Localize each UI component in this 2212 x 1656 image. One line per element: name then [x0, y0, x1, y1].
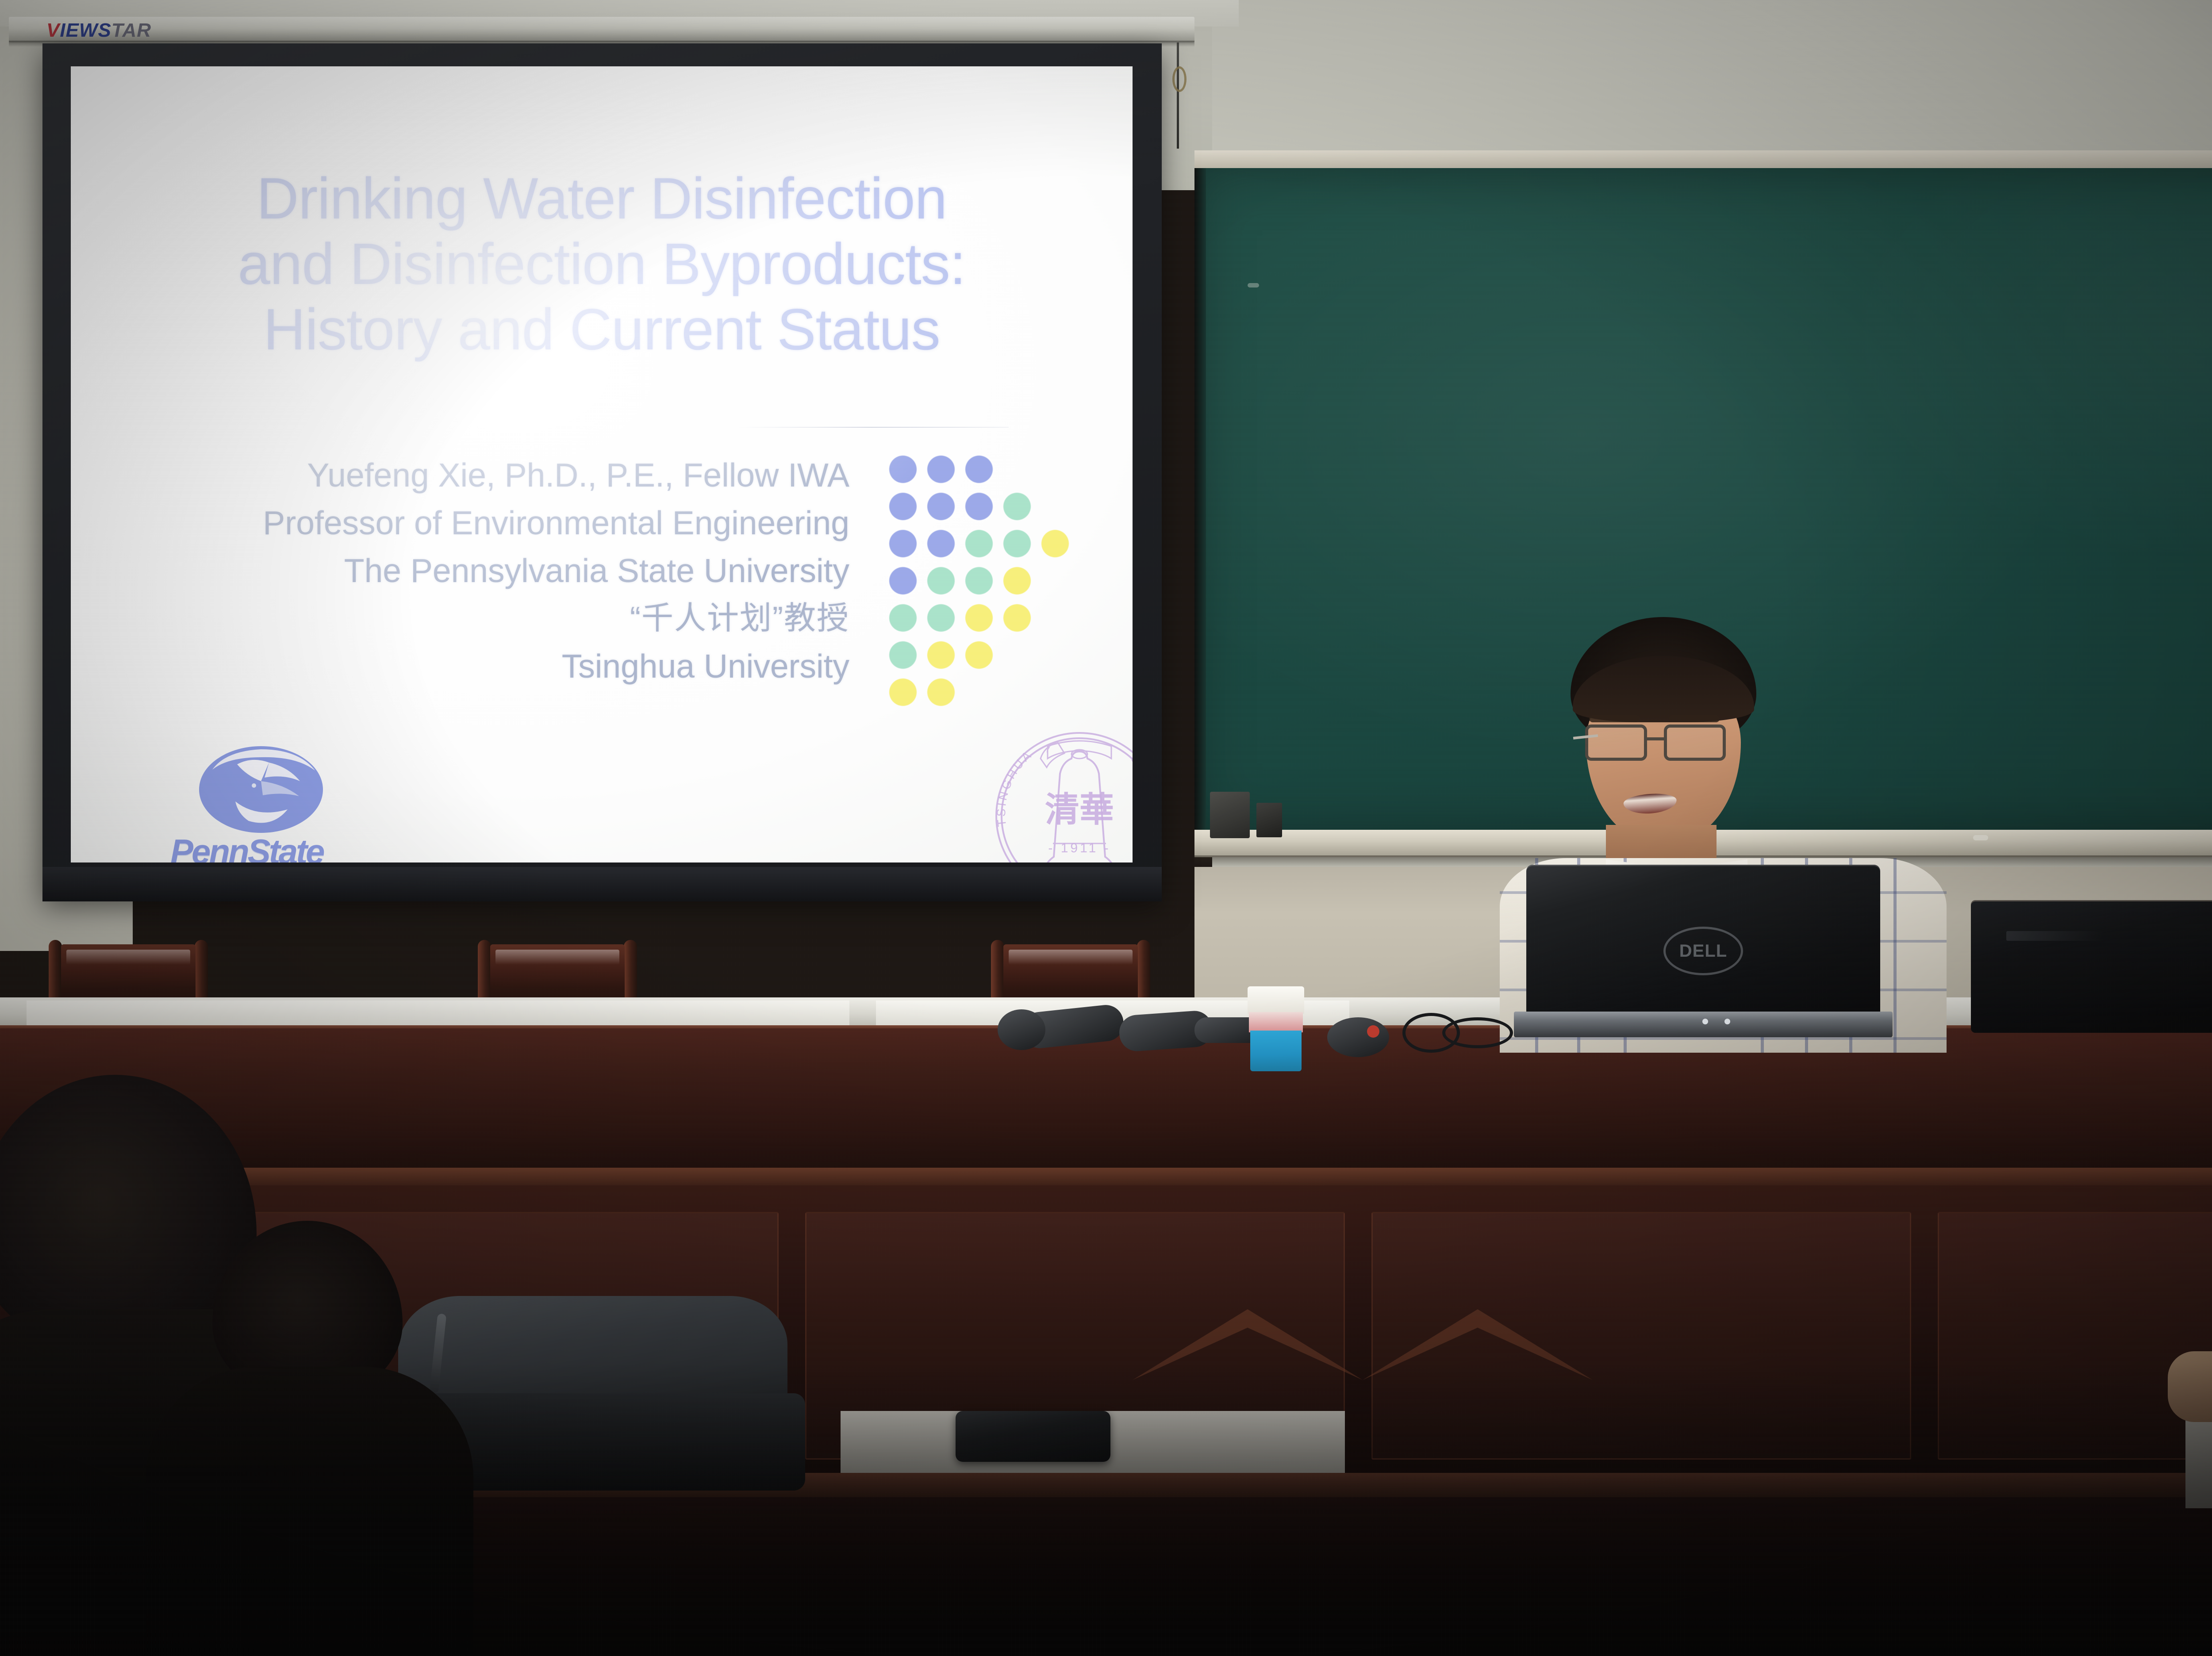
slide-subtitle-line-2: Professor of Environmental Engineering: [261, 499, 849, 547]
slide-subtitle-line-1: Yuefeng Xie, Ph.D., P.E., Fellow IWA: [261, 451, 849, 499]
tsinghua-year: - 1911 -: [1048, 841, 1110, 855]
laptop-led-indicator: [1724, 1019, 1730, 1024]
dot-green: [1003, 493, 1031, 520]
dot-grid-row: [889, 567, 1069, 594]
paper-cup[interactable]: [1248, 986, 1304, 1070]
presentation-slide: Drinking Water Disinfection and Disinfec…: [71, 66, 1133, 862]
laptop-base: [1514, 1012, 1893, 1037]
wall-speaker-box: [1210, 792, 1250, 838]
dot-grid-row: [889, 493, 1069, 520]
dot-yellow: [889, 678, 917, 706]
second-laptop[interactable]: [1971, 900, 2212, 1042]
laptop-lid: [1971, 900, 2212, 1033]
dot-yellow: [965, 641, 993, 669]
laptop-brand-badge: [2006, 931, 2104, 941]
dot-green: [927, 604, 955, 632]
slide-subtitle: Yuefeng Xie, Ph.D., P.E., Fellow IWA Pro…: [261, 451, 849, 690]
dot-green: [1003, 530, 1031, 557]
cable-coil: [1442, 1017, 1513, 1048]
dot-blue: [927, 493, 955, 520]
dot-grid-row: [889, 530, 1069, 557]
projector-screen-housing: [9, 17, 1194, 42]
shirt-plaid-line: [1893, 858, 1897, 1053]
slide-title: Drinking Water Disinfection and Disinfec…: [71, 166, 1133, 362]
chalkboard-top-trim: [1194, 150, 2212, 170]
dot-green: [965, 567, 993, 594]
dot-blue: [889, 456, 917, 483]
slide-title-line-1: Drinking Water Disinfection: [71, 166, 1133, 231]
cup-lid: [1248, 986, 1304, 1014]
screen-pull-cord[interactable]: [1177, 42, 1179, 149]
microphone-indicator-light: [1367, 1025, 1379, 1038]
viewstar-part-3: TAR: [111, 19, 151, 41]
slide-divider-rule: [734, 427, 1009, 428]
dot-yellow: [965, 604, 993, 632]
tsinghua-university-seal-icon: 清華 - 1911 - TSINGHUA UNIVERSITY: [991, 728, 1133, 862]
slide-dot-grid-decoration: [889, 456, 1069, 716]
dot-blue: [927, 530, 955, 557]
desk-panel: [1938, 1212, 2212, 1460]
slide-subtitle-line-5: Tsinghua University: [261, 642, 849, 690]
dot-grid-row: [889, 678, 1069, 706]
dot-blue: [927, 456, 955, 483]
lecture-hall-photo: VIEWSTAR Drinking Water Disinfection and…: [0, 0, 2212, 1656]
screen-pull-ring-icon[interactable]: [1172, 66, 1187, 92]
dot-blue: [889, 530, 917, 557]
presenter-eyebrow-left: [1589, 715, 1640, 722]
microphone-head: [998, 1009, 1045, 1050]
viewstar-brand-logo: VIEWSTAR: [46, 19, 151, 42]
microphone-head[interactable]: [1327, 1017, 1389, 1057]
dot-blue: [889, 567, 917, 594]
dot-yellow: [927, 678, 955, 706]
laptop-led-indicator: [1702, 1019, 1708, 1024]
presenter-eyeglass-lens-left: [1585, 724, 1647, 761]
dot-yellow: [1003, 567, 1031, 594]
chair-gloss: [1009, 950, 1133, 965]
penn-state-wordmark: PennState: [170, 832, 361, 862]
presenter-eyeglass-lens-right: [1664, 724, 1726, 761]
dot-green: [965, 530, 993, 557]
dot-grid-row: [889, 604, 1069, 632]
slide-subtitle-line-4: “千人计划”教授: [261, 594, 849, 642]
dot-blue: [889, 493, 917, 520]
dot-yellow: [1041, 530, 1069, 557]
dot-blue: [965, 456, 993, 483]
smartphone[interactable]: [956, 1411, 1110, 1462]
slide-title-line-3: History and Current Status: [71, 297, 1133, 362]
nittany-lion-icon: [195, 743, 327, 838]
wall-outlet-box: [1256, 803, 1282, 837]
cup-label: [1249, 1012, 1303, 1032]
chalk-smudge: [1248, 283, 1259, 287]
chair-gloss: [66, 950, 190, 965]
chalkboard-left-edge: [1194, 168, 1206, 832]
presenter-eyebrow-right: [1669, 715, 1720, 722]
dot-green: [889, 604, 917, 632]
viewstar-part-2: IEWS: [60, 19, 111, 41]
dot-grid-row: [889, 456, 1069, 483]
right-attendee-hand: [2168, 1351, 2212, 1422]
foreground-attendee-body: [146, 1367, 473, 1656]
tsinghua-characters: 清華: [1045, 790, 1114, 829]
desk-white-panel: [27, 1000, 849, 1028]
presenter-eyeglass-bridge: [1647, 737, 1664, 740]
cup-sleeve: [1250, 1031, 1302, 1071]
dot-blue: [965, 493, 993, 520]
viewstar-part-1: V: [46, 19, 60, 41]
dot-yellow: [1003, 604, 1031, 632]
dot-grid-row: [889, 641, 1069, 669]
dot-yellow: [927, 641, 955, 669]
chalk-piece: [1973, 835, 1988, 840]
chair-gloss: [495, 950, 619, 965]
presenter-laptop[interactable]: DELL: [1526, 865, 1880, 1042]
projector-screen-bottom-bar: [42, 867, 1162, 901]
dot-green: [889, 641, 917, 669]
slide-title-line-2: and Disinfection Byproducts:: [71, 231, 1133, 297]
laptop-lid: DELL: [1526, 865, 1880, 1015]
penn-state-logo: PennState: [170, 743, 365, 862]
dot-green: [927, 567, 955, 594]
dell-logo-icon: DELL: [1663, 927, 1743, 975]
slide-subtitle-line-3: The Pennsylvania State University: [261, 547, 849, 594]
